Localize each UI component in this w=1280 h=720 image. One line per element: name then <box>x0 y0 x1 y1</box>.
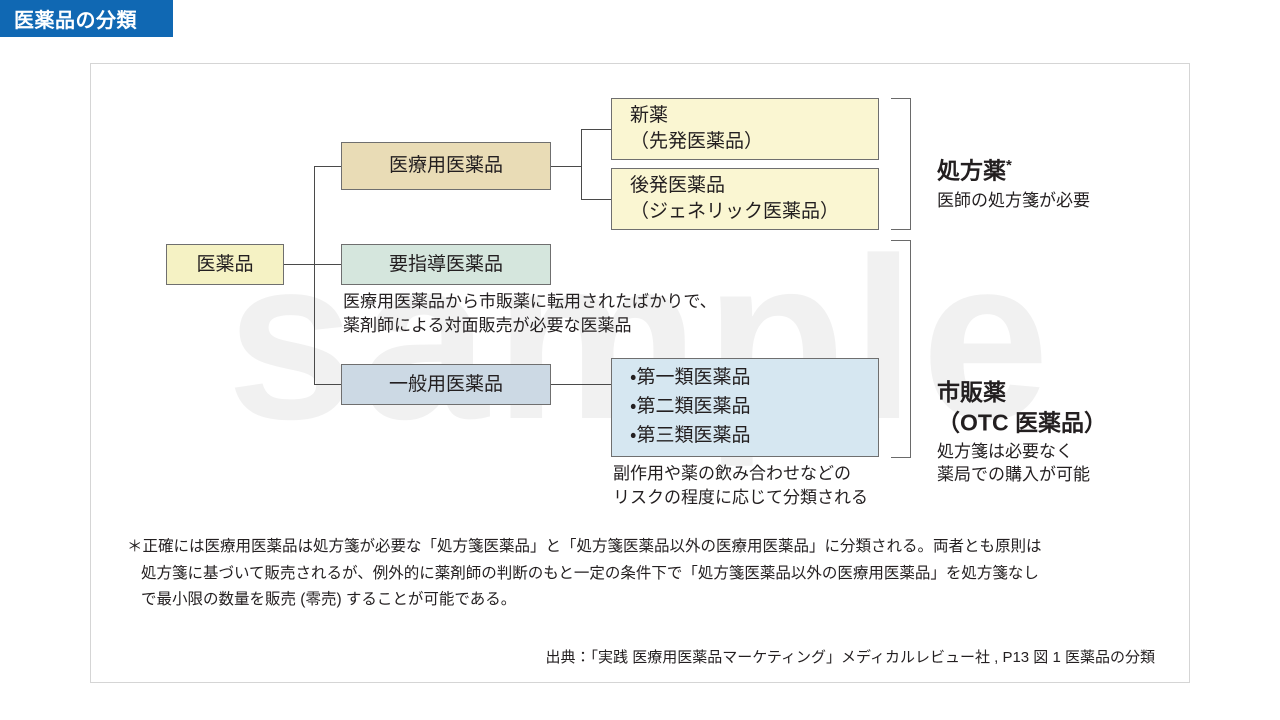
connector-rx-to-new <box>581 129 611 130</box>
annotation-prescription: 処方薬* 医師の処方箋が必要 <box>937 127 1090 212</box>
node-box-shinyaku[interactable]: 新薬 （先発医薬品） <box>611 98 879 160</box>
node-label-otc-classes: ・第一類医薬品 ・第二類医薬品 ・第三類医薬品 <box>612 364 878 451</box>
node-label-yoshido-iyakuhin: 要指導医薬品 <box>342 252 550 278</box>
footnote: ＊正確には医療用医薬品は処方箋が必要な「処方箋医薬品」と「処方箋医薬品以外の医療… <box>127 534 1157 614</box>
connector-root-to-trunk <box>284 264 314 265</box>
annotation-otc-heading: 市販薬 （OTC 医薬品） <box>937 349 1107 438</box>
annotation-otc: 市販薬 （OTC 医薬品） 処方箋は必要なく 薬局での購入が可能 <box>937 349 1107 487</box>
annotation-prescription-sub: 医師の処方箋が必要 <box>937 190 1090 213</box>
caption-otc-classes: 副作用や薬の飲み合わせなどの リスクの程度に応じて分類される <box>613 462 868 510</box>
bracket-otc-group <box>891 240 911 458</box>
node-label-shinyaku: 新薬 （先発医薬品） <box>612 103 878 154</box>
connector-trunk-vertical <box>314 166 315 385</box>
page-title: 医薬品の分類 <box>0 4 137 33</box>
node-box-otc-classes[interactable]: ・第一類医薬品 ・第二類医薬品 ・第三類医薬品 <box>611 358 879 457</box>
footnote-line-3: で最小限の数量を販売 (零売) することが可能である。 <box>127 587 1157 614</box>
node-box-iryoyo-iyakuhin[interactable]: 医療用医薬品 <box>341 142 551 190</box>
annotation-otc-sub: 処方箋は必要なく 薬局での購入が可能 <box>937 441 1107 487</box>
node-box-kohatsu-iyakuhin[interactable]: 後発医薬品 （ジェネリック医薬品） <box>611 168 879 230</box>
footnote-line-1: ＊正確には医療用医薬品は処方箋が必要な「処方箋医薬品」と「処方箋医薬品以外の医療… <box>127 534 1157 561</box>
node-label-iryoyo-iyakuhin: 医療用医薬品 <box>342 153 550 179</box>
caption-yoshido-iyakuhin: 医療用医薬品から市販薬に転用されたばかりで、 薬剤師による対面販売が必要な医薬品 <box>343 290 717 338</box>
figure-frame: sample 医薬品 医療用医薬品 要指導医薬品 一般用医薬品 新薬 （先発医薬… <box>90 63 1190 683</box>
connector-trunk-to-otc <box>314 384 341 385</box>
connector-rx-stub <box>551 166 581 167</box>
annotation-otc-heading-text: 市販薬 （OTC 医薬品） <box>937 379 1107 435</box>
connector-otc-to-classes <box>551 384 611 385</box>
node-box-ippanyo-iyakuhin[interactable]: 一般用医薬品 <box>341 364 551 405</box>
connector-rx-split-vertical <box>581 129 582 199</box>
node-label-kohatsu-iyakuhin: 後発医薬品 （ジェネリック医薬品） <box>612 173 878 224</box>
annotation-prescription-heading-text: 処方薬 <box>937 158 1006 184</box>
source-citation: 出典：「実践 医療用医薬品マーケティング」メディカルレビュー社 , P13 図 … <box>546 646 1155 667</box>
bracket-prescription-group <box>891 98 911 230</box>
connector-trunk-to-guidance <box>314 264 341 265</box>
connector-rx-to-generic <box>581 199 611 200</box>
node-box-yoshido-iyakuhin[interactable]: 要指導医薬品 <box>341 244 551 285</box>
node-label-iyakuhin: 医薬品 <box>167 252 283 278</box>
page-header-banner: 医薬品の分類 <box>0 0 173 37</box>
node-box-iyakuhin[interactable]: 医薬品 <box>166 244 284 285</box>
asterisk-marker: * <box>1006 157 1012 174</box>
footnote-line-2: 処方箋に基づいて販売されるが、例外的に薬剤師の判断のもと一定の条件下で「処方箋医… <box>127 561 1157 588</box>
node-label-ippanyo-iyakuhin: 一般用医薬品 <box>342 372 550 398</box>
connector-trunk-to-rx <box>314 166 341 167</box>
annotation-prescription-heading: 処方薬* <box>937 127 1090 187</box>
